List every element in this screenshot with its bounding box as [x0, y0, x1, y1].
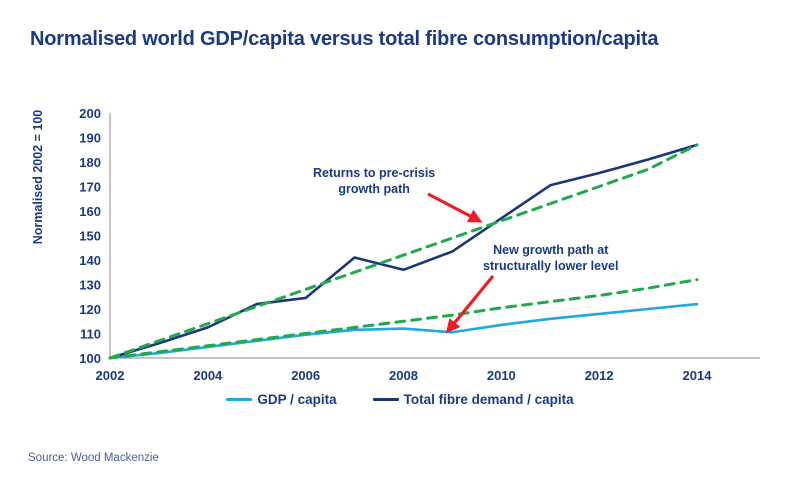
- annotation-new-growth-path: New growth path at structurally lower le…: [483, 243, 618, 274]
- plot-area: 1001101201301401501601701801902002002200…: [0, 0, 800, 480]
- legend-label: Total fibre demand / capita: [404, 392, 574, 407]
- y-tick-label: 100: [79, 351, 101, 366]
- legend-item-1[interactable]: GDP / capita: [226, 392, 336, 407]
- chart-container: Normalised world GDP/capita versus total…: [0, 0, 800, 480]
- y-tick-label: 150: [79, 229, 101, 244]
- annotation-returns-line2: growth path: [313, 182, 435, 198]
- y-tick-label: 190: [79, 131, 101, 146]
- series-line-4: [110, 280, 697, 358]
- legend-item-2[interactable]: Total fibre demand / capita: [373, 392, 574, 407]
- legend-swatch-icon: [373, 398, 399, 401]
- y-tick-label: 130: [79, 278, 101, 293]
- chart-legend: GDP / capitaTotal fibre demand / capita: [0, 392, 800, 407]
- x-tick-label: 2006: [291, 368, 320, 383]
- y-tick-label: 160: [79, 204, 101, 219]
- annotation-newpath-line1: New growth path at: [483, 243, 618, 259]
- x-tick-label: 2012: [585, 368, 614, 383]
- x-tick-label: 2010: [487, 368, 516, 383]
- x-tick-label: 2014: [683, 368, 713, 383]
- annotation-arrow-new-path: [452, 276, 493, 326]
- x-tick-label: 2004: [193, 368, 223, 383]
- y-tick-label: 110: [80, 327, 101, 342]
- y-tick-label: 180: [79, 155, 101, 170]
- annotation-newpath-line2: structurally lower level: [483, 259, 618, 275]
- annotation-returns-to-pre-crisis: Returns to pre-crisis growth path: [313, 166, 435, 197]
- y-tick-label: 170: [79, 180, 101, 195]
- y-tick-label: 120: [79, 302, 101, 317]
- source-note: Source: Wood Mackenzie: [28, 452, 159, 464]
- x-tick-label: 2008: [389, 368, 418, 383]
- x-tick-label: 2002: [96, 368, 125, 383]
- y-tick-label: 200: [79, 106, 101, 121]
- y-tick-label: 140: [79, 253, 101, 268]
- legend-label: GDP / capita: [257, 392, 336, 407]
- legend-swatch-icon: [226, 398, 252, 401]
- annotation-returns-line1: Returns to pre-crisis: [313, 166, 435, 182]
- annotation-arrow-returns: [428, 194, 474, 218]
